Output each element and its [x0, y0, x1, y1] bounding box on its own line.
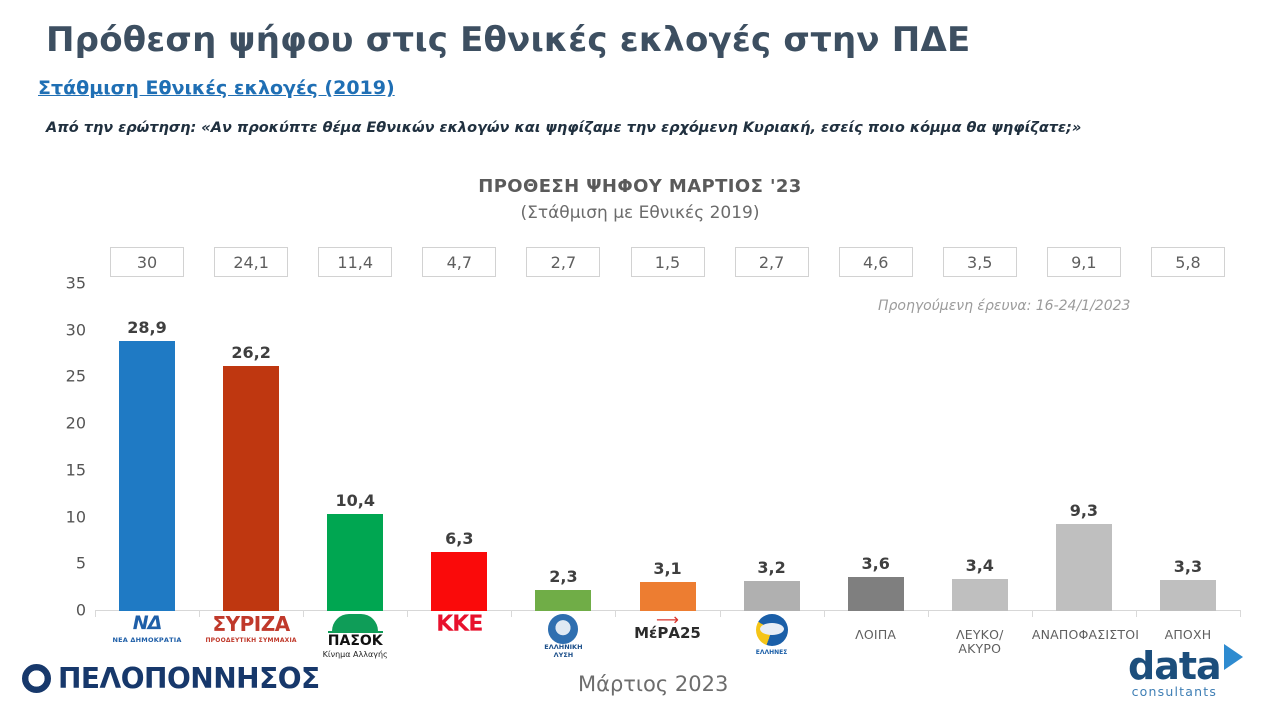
bar-value-label: 3,4	[940, 556, 1020, 575]
bar-value-label: 3,3	[1148, 557, 1228, 576]
mera25-logo-icon: ⟶ΜέΡΑ25	[615, 614, 719, 641]
nd-sublabel: ΝΕΑ ΔΗΜΟΚΡΑΤΙΑ	[95, 633, 199, 647]
bar-value-label: 3,6	[836, 554, 916, 573]
y-axis-labels: 05101520253035	[28, 270, 86, 620]
y-axis-tick-label: 30	[30, 320, 86, 339]
y-axis-tick-label: 35	[30, 274, 86, 293]
chart-title: ΠΡΟΘΕΣΗ ΨΗΦΟΥ ΜΑΡΤΙΟΣ '23	[0, 176, 1280, 197]
outlet-name: ΠΕΛΟΠΟΝΝΗΣΟΣ	[58, 665, 320, 693]
bar-value-label: 26,2	[211, 343, 291, 362]
ellines-emblem-icon	[756, 614, 788, 646]
y-axis-tick-label: 0	[30, 601, 86, 620]
bar[interactable]	[640, 582, 696, 611]
category-label: ΛΕΥΚΟ/ΑΚΥΡΟ	[928, 614, 1032, 656]
bar-value-label: 9,3	[1044, 501, 1124, 520]
kke-mark: ΚΚΕ	[407, 614, 511, 636]
nd-mark: ΝΔ	[95, 614, 199, 633]
y-axis-tick-label: 15	[30, 460, 86, 479]
category-label: ΛΟΙΠΑ	[824, 614, 928, 642]
category-text: ΑΠΟΧΗ	[1136, 614, 1240, 642]
arrow-icon	[1224, 644, 1243, 670]
survey-question: Από την ερώτηση: «Αν προκύπτε θέμα Εθνικ…	[46, 120, 1081, 136]
kke-logo-icon: ΚΚΕ	[407, 614, 511, 636]
syriza-sublabel: ΠΡΟΟΔΕΥΤΙΚΗ ΣΥΜΜΑΧΙΑ	[199, 634, 303, 648]
category-text: ΛΕΥΚΟ/ΑΚΥΡΟ	[928, 614, 1032, 656]
syriza-mark: ΣΥΡΙΖΑ	[199, 614, 303, 634]
bar-value-label: 28,9	[107, 318, 187, 337]
compass-icon	[548, 614, 578, 644]
bar[interactable]	[1056, 524, 1112, 611]
seal-icon	[22, 664, 51, 693]
category-label: ΠΑΣΟΚΚίνημα Αλλαγής	[303, 614, 407, 662]
mera25-mark: ΜέΡΑ25	[615, 626, 719, 641]
ellines-sublabel: ΕΛΛΗΝΕΣ	[720, 646, 824, 660]
category-text: ΑΝΑΠΟΦΑΣΙΣΤΟΙ	[1032, 614, 1136, 642]
pasok-sublabel: Κίνημα Αλλαγής	[303, 648, 407, 662]
agency-logo: data consultants	[1128, 648, 1221, 699]
bar[interactable]	[119, 341, 175, 611]
bar-value-label: 6,3	[419, 529, 499, 548]
ellines-logo-icon: ΕΛΛΗΝΕΣ	[720, 614, 824, 660]
category-label: ΕΛΛΗΝΕΣ	[720, 614, 824, 660]
y-axis-tick-label: 5	[30, 554, 86, 573]
outlet-logo: ΠΕΛΟΠΟΝΝΗΣΟΣ	[22, 664, 320, 693]
bar[interactable]	[327, 514, 383, 611]
y-axis-tick-label: 25	[30, 367, 86, 386]
survey-date: Μάρτιος 2023	[578, 672, 728, 696]
page-title: Πρόθεση ψήφου στις Εθνικές εκλογές στην …	[46, 20, 970, 60]
pasok-logo-icon: ΠΑΣΟΚΚίνημα Αλλαγής	[303, 614, 407, 662]
slide-root: Πρόθεση ψήφου στις Εθνικές εκλογές στην …	[0, 0, 1280, 720]
y-axis-tick-label: 10	[30, 507, 86, 526]
bar[interactable]	[848, 577, 904, 611]
chart-subtitle: (Στάθμιση με Εθνικές 2019)	[0, 203, 1280, 223]
weighting-link[interactable]: Στάθμιση Εθνικές εκλογές (2019)	[38, 77, 395, 99]
category-label: ⟶ΜέΡΑ25	[615, 614, 719, 641]
category-label: ΑΠΟΧΗ	[1136, 614, 1240, 642]
bar-value-label: 2,3	[523, 567, 603, 586]
category-label: ΕΛΛΗΝΙΚΗΛΥΣΗ	[511, 614, 615, 659]
bar-series: 28,926,210,46,32,33,13,23,63,49,33,3	[95, 240, 1240, 611]
bar[interactable]	[431, 552, 487, 611]
category-text: ΛΟΙΠΑ	[824, 614, 928, 642]
x-axis-tick	[1240, 610, 1241, 617]
pasok-mark: ΠΑΣΟΚ	[328, 631, 383, 648]
agency-tagline: consultants	[1128, 684, 1221, 699]
bar[interactable]	[1160, 580, 1216, 611]
agency-name: data	[1128, 648, 1221, 684]
category-label: ΣΥΡΙΖΑΠΡΟΟΔΕΥΤΙΚΗ ΣΥΜΜΑΧΙΑ	[199, 614, 303, 648]
elliniki-lysi-logo-icon: ΕΛΛΗΝΙΚΗΛΥΣΗ	[511, 614, 615, 659]
sun-icon	[332, 614, 378, 631]
bar[interactable]	[744, 581, 800, 611]
nd-logo-icon: ΝΔΝΕΑ ΔΗΜΟΚΡΑΤΙΑ	[95, 614, 199, 647]
syriza-logo-icon: ΣΥΡΙΖΑΠΡΟΟΔΕΥΤΙΚΗ ΣΥΜΜΑΧΙΑ	[199, 614, 303, 648]
bar-value-label: 3,2	[732, 558, 812, 577]
bar[interactable]	[535, 590, 591, 611]
bar[interactable]	[952, 579, 1008, 611]
bar-value-label: 10,4	[315, 491, 395, 510]
elliniki-lysi-sublabel: ΕΛΛΗΝΙΚΗΛΥΣΗ	[511, 644, 615, 659]
category-label: ΚΚΕ	[407, 614, 511, 636]
bar-value-label: 3,1	[628, 559, 708, 578]
category-label: ΑΝΑΠΟΦΑΣΙΣΤΟΙ	[1032, 614, 1136, 642]
category-label: ΝΔΝΕΑ ΔΗΜΟΚΡΑΤΙΑ	[95, 614, 199, 647]
bar[interactable]	[223, 366, 279, 611]
y-axis-tick-label: 20	[30, 414, 86, 433]
